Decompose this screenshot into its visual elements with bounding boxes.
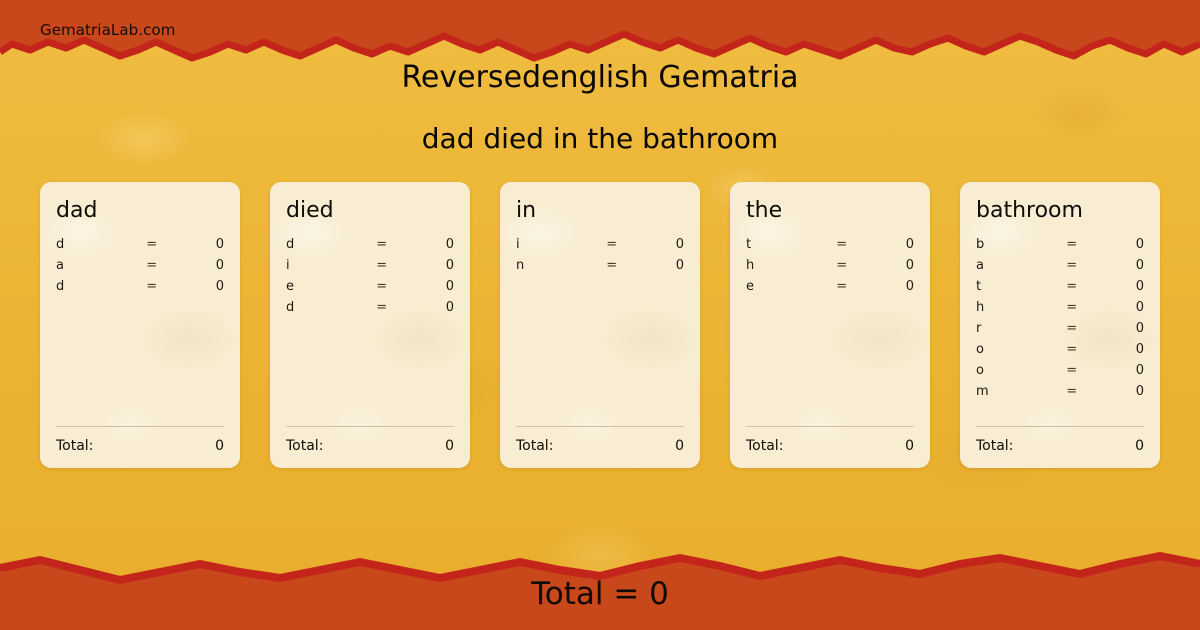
letter-row-list: t=0h=0e=0 bbox=[746, 237, 914, 422]
equals-sign: = bbox=[1053, 363, 1090, 378]
letter-value: 0 bbox=[860, 258, 914, 273]
letter-row: e=0 bbox=[286, 279, 454, 300]
equals-sign: = bbox=[133, 237, 170, 252]
letter-label: d bbox=[56, 237, 133, 252]
equals-sign: = bbox=[1053, 279, 1090, 294]
site-branding: GematriaLab.com bbox=[40, 21, 175, 39]
equals-sign: = bbox=[363, 237, 400, 252]
letter-value: 0 bbox=[1090, 363, 1144, 378]
card-divider bbox=[746, 426, 914, 427]
card-divider bbox=[976, 426, 1144, 427]
word-card: ini=0n=0Total:0 bbox=[500, 182, 700, 468]
letter-row: h=0 bbox=[976, 300, 1144, 321]
letter-label: n bbox=[516, 258, 593, 273]
equals-sign: = bbox=[1053, 258, 1090, 273]
equals-sign: = bbox=[133, 279, 170, 294]
letter-row: n=0 bbox=[516, 258, 684, 279]
letter-value: 0 bbox=[1090, 321, 1144, 336]
letter-label: m bbox=[976, 384, 1053, 399]
letter-label: t bbox=[976, 279, 1053, 294]
card-word-title: the bbox=[746, 198, 914, 223]
letter-label: e bbox=[286, 279, 363, 294]
card-divider bbox=[516, 426, 684, 427]
letter-row: i=0 bbox=[286, 258, 454, 279]
card-total-label: Total: bbox=[976, 438, 1135, 454]
letter-row: m=0 bbox=[976, 384, 1144, 405]
grand-total: Total = 0 bbox=[0, 576, 1200, 612]
letter-label: d bbox=[56, 279, 133, 294]
letter-row: e=0 bbox=[746, 279, 914, 300]
letter-label: a bbox=[56, 258, 133, 273]
word-card-list: dadd=0a=0d=0Total:0diedd=0i=0e=0d=0Total… bbox=[40, 182, 1160, 468]
equals-sign: = bbox=[593, 258, 630, 273]
gematria-image: GematriaLab.com Reversedenglish Gematria… bbox=[0, 0, 1200, 630]
letter-value: 0 bbox=[400, 258, 454, 273]
card-total-value: 0 bbox=[215, 438, 224, 454]
letter-row: d=0 bbox=[56, 237, 224, 258]
card-total-row: Total:0 bbox=[976, 438, 1144, 454]
equals-sign: = bbox=[133, 258, 170, 273]
card-divider bbox=[286, 426, 454, 427]
word-card: diedd=0i=0e=0d=0Total:0 bbox=[270, 182, 470, 468]
card-divider bbox=[56, 426, 224, 427]
letter-row: a=0 bbox=[976, 258, 1144, 279]
letter-value: 0 bbox=[630, 258, 684, 273]
equals-sign: = bbox=[1053, 384, 1090, 399]
card-total-label: Total: bbox=[516, 438, 675, 454]
letter-label: t bbox=[746, 237, 823, 252]
letter-row-list: b=0a=0t=0h=0r=0o=0o=0m=0 bbox=[976, 237, 1144, 422]
letter-label: i bbox=[516, 237, 593, 252]
letter-row: t=0 bbox=[746, 237, 914, 258]
letter-label: o bbox=[976, 342, 1053, 357]
equals-sign: = bbox=[593, 237, 630, 252]
letter-value: 0 bbox=[400, 300, 454, 315]
equals-sign: = bbox=[823, 279, 860, 294]
letter-value: 0 bbox=[400, 237, 454, 252]
card-total-label: Total: bbox=[286, 438, 445, 454]
card-total-value: 0 bbox=[445, 438, 454, 454]
letter-value: 0 bbox=[860, 237, 914, 252]
letter-label: r bbox=[976, 321, 1053, 336]
letter-value: 0 bbox=[1090, 258, 1144, 273]
letter-label: d bbox=[286, 237, 363, 252]
card-total-row: Total:0 bbox=[286, 438, 454, 454]
letter-label: b bbox=[976, 237, 1053, 252]
card-total-value: 0 bbox=[905, 438, 914, 454]
equals-sign: = bbox=[1053, 321, 1090, 336]
equals-sign: = bbox=[363, 279, 400, 294]
word-card: thet=0h=0e=0Total:0 bbox=[730, 182, 930, 468]
letter-row-list: d=0a=0d=0 bbox=[56, 237, 224, 422]
letter-value: 0 bbox=[1090, 300, 1144, 315]
equals-sign: = bbox=[363, 258, 400, 273]
letter-value: 0 bbox=[1090, 342, 1144, 357]
letter-label: i bbox=[286, 258, 363, 273]
letter-value: 0 bbox=[170, 237, 224, 252]
card-total-label: Total: bbox=[56, 438, 215, 454]
equals-sign: = bbox=[363, 300, 400, 315]
word-card: dadd=0a=0d=0Total:0 bbox=[40, 182, 240, 468]
letter-value: 0 bbox=[170, 279, 224, 294]
phrase-heading: dad died in the bathroom bbox=[0, 122, 1200, 155]
page-title: Reversedenglish Gematria bbox=[0, 60, 1200, 95]
equals-sign: = bbox=[1053, 300, 1090, 315]
letter-row: o=0 bbox=[976, 363, 1144, 384]
letter-value: 0 bbox=[1090, 237, 1144, 252]
letter-label: e bbox=[746, 279, 823, 294]
letter-row: h=0 bbox=[746, 258, 914, 279]
letter-row-list: d=0i=0e=0d=0 bbox=[286, 237, 454, 422]
letter-label: a bbox=[976, 258, 1053, 273]
letter-value: 0 bbox=[1090, 279, 1144, 294]
card-total-value: 0 bbox=[1135, 438, 1144, 454]
letter-row: r=0 bbox=[976, 321, 1144, 342]
equals-sign: = bbox=[823, 237, 860, 252]
letter-row: d=0 bbox=[286, 300, 454, 321]
equals-sign: = bbox=[823, 258, 860, 273]
card-total-row: Total:0 bbox=[56, 438, 224, 454]
letter-label: h bbox=[746, 258, 823, 273]
letter-value: 0 bbox=[1090, 384, 1144, 399]
letter-row: b=0 bbox=[976, 237, 1144, 258]
card-word-title: dad bbox=[56, 198, 224, 223]
letter-value: 0 bbox=[860, 279, 914, 294]
letter-row-list: i=0n=0 bbox=[516, 237, 684, 422]
letter-row: a=0 bbox=[56, 258, 224, 279]
card-word-title: died bbox=[286, 198, 454, 223]
card-total-label: Total: bbox=[746, 438, 905, 454]
card-total-value: 0 bbox=[675, 438, 684, 454]
letter-row: d=0 bbox=[56, 279, 224, 300]
letter-value: 0 bbox=[630, 237, 684, 252]
letter-label: d bbox=[286, 300, 363, 315]
letter-row: i=0 bbox=[516, 237, 684, 258]
card-total-row: Total:0 bbox=[746, 438, 914, 454]
equals-sign: = bbox=[1053, 342, 1090, 357]
equals-sign: = bbox=[1053, 237, 1090, 252]
letter-row: d=0 bbox=[286, 237, 454, 258]
letter-row: t=0 bbox=[976, 279, 1144, 300]
letter-row: o=0 bbox=[976, 342, 1144, 363]
card-total-row: Total:0 bbox=[516, 438, 684, 454]
letter-value: 0 bbox=[400, 279, 454, 294]
card-word-title: in bbox=[516, 198, 684, 223]
letter-value: 0 bbox=[170, 258, 224, 273]
letter-label: o bbox=[976, 363, 1053, 378]
card-word-title: bathroom bbox=[976, 198, 1144, 223]
word-card: bathroomb=0a=0t=0h=0r=0o=0o=0m=0Total:0 bbox=[960, 182, 1160, 468]
letter-label: h bbox=[976, 300, 1053, 315]
